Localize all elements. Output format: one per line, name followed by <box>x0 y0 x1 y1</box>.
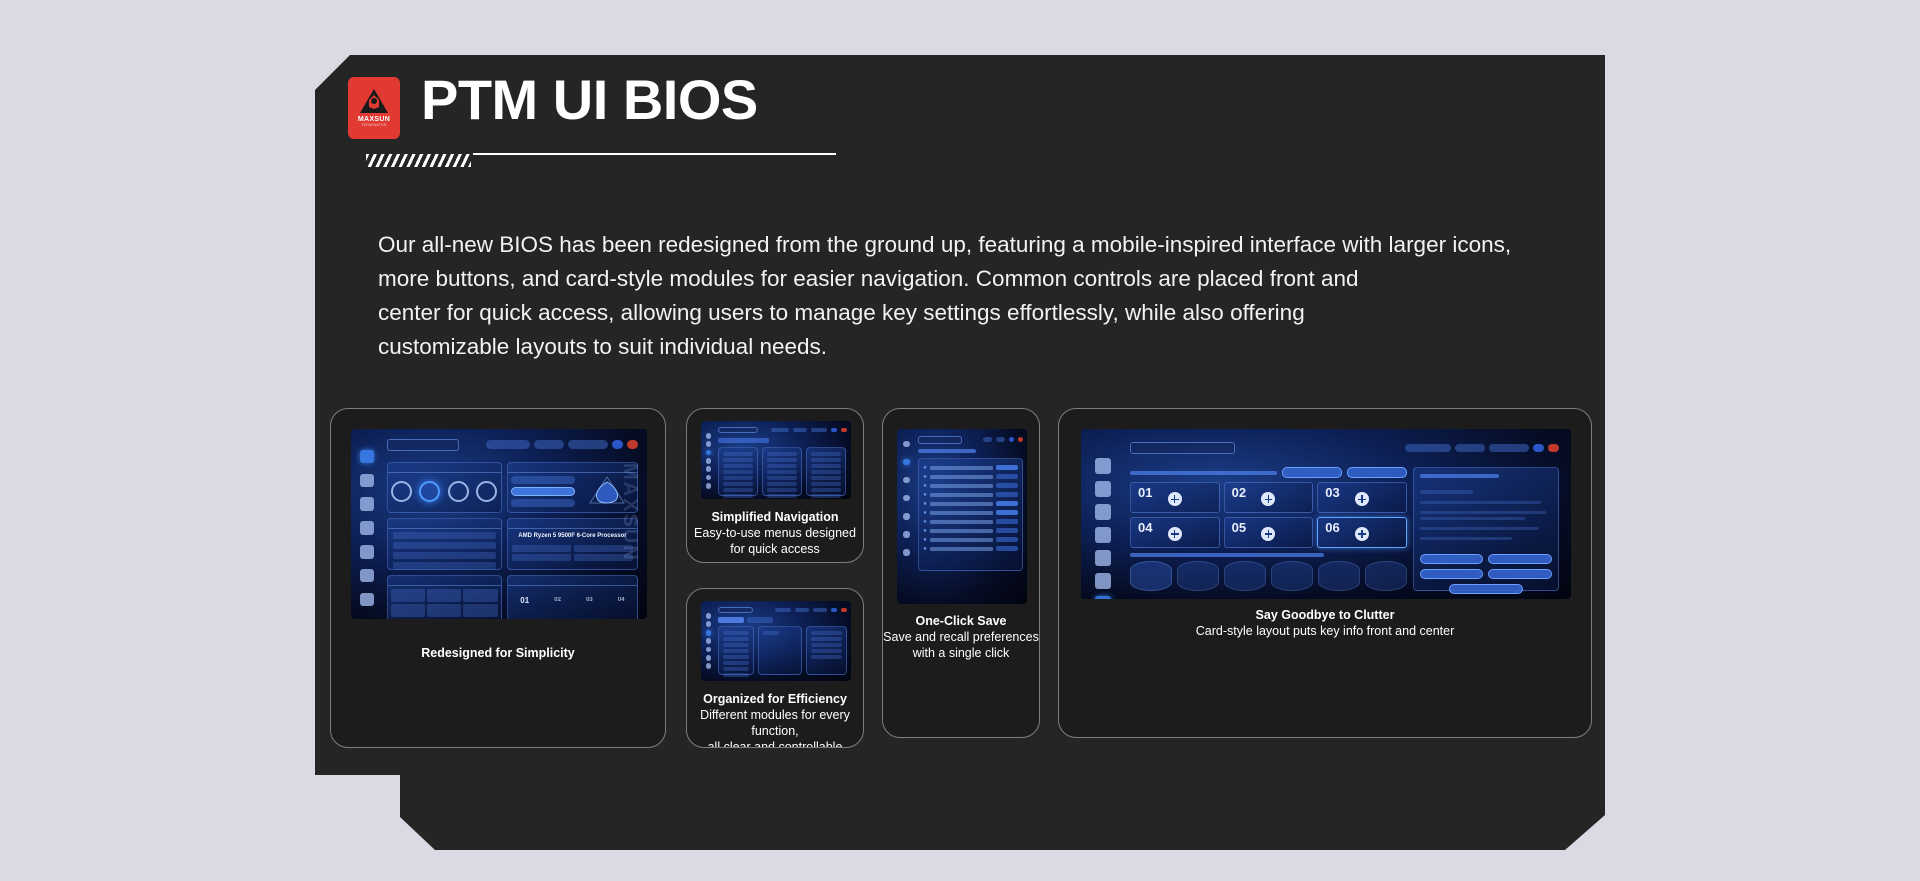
card-caption: One-Click Save Save and recall preferenc… <box>883 613 1039 661</box>
favorites-bar-button[interactable] <box>568 440 608 449</box>
discard-changes-button[interactable] <box>1420 569 1483 579</box>
header-right-block <box>1240 55 1605 167</box>
list-item[interactable]: ★ <box>923 474 1018 480</box>
power-icon[interactable] <box>627 440 638 449</box>
caption-subtitle-2: all clear and controllable <box>687 739 863 748</box>
maxsun-triangle-icon <box>359 88 389 114</box>
logo-brand: MAXSUN <box>358 116 390 123</box>
header-bar: MAXSUN TERMINATOR PTM UI BIOS <box>326 55 1231 165</box>
list-item[interactable]: ★ <box>923 465 1018 471</box>
save-changes-button[interactable] <box>1420 554 1483 564</box>
tool-slot[interactable] <box>1271 561 1313 591</box>
plus-icon <box>1355 527 1369 541</box>
boot-priority-section: 01020304 <box>507 575 638 619</box>
plus-icon <box>1261 527 1275 541</box>
card-caption: Organized for Efficiency Different modul… <box>687 691 863 748</box>
list-item[interactable]: ★ <box>923 501 1018 507</box>
mode-windows-default[interactable] <box>511 487 576 497</box>
screenshot-icon[interactable] <box>612 440 623 449</box>
sidebar-item-tools[interactable] <box>903 549 910 556</box>
sidebar-item-tools[interactable] <box>360 593 374 607</box>
bios-screenshot-advanced <box>701 421 851 499</box>
watermark: MAXSUN <box>618 463 641 562</box>
sidebar-item-favorites[interactable] <box>706 441 712 447</box>
sidebar-item-tools[interactable] <box>706 483 712 489</box>
bios-sidebar <box>351 429 384 619</box>
profile-card-02[interactable]: 02 <box>1224 482 1314 513</box>
card-caption: Redesigned for Simplicity <box>331 645 665 661</box>
sidebar-item-favorites[interactable] <box>1095 481 1111 497</box>
toggle-expo[interactable] <box>391 481 412 502</box>
bios-screenshot-modules <box>701 601 851 681</box>
bios-settings-panel <box>1413 467 1559 591</box>
list-item[interactable]: ★ <box>923 537 1018 543</box>
maxsun-logo: MAXSUN TERMINATOR <box>348 77 400 139</box>
plus-icon <box>1261 492 1275 506</box>
star-icon: ★ <box>923 492 927 498</box>
page-title: PTM UI BIOS <box>421 72 758 128</box>
list-item[interactable]: ★ <box>923 483 1018 489</box>
bios-screenshot-favorites: ★ ★ ★ ★ ★ ★ ★ ★ ★ ★ <box>897 429 1027 604</box>
star-icon: ★ <box>923 537 927 543</box>
sidebar-item-overclock[interactable] <box>706 458 712 464</box>
star-icon: ★ <box>923 519 927 525</box>
sidebar-item-advanced[interactable] <box>1095 504 1111 520</box>
star-icon: ★ <box>923 474 927 480</box>
plus-icon <box>1168 492 1182 506</box>
memory-section <box>387 518 502 570</box>
poster-canvas: MAXSUN TERMINATOR PTM UI BIOS Our all-ne… <box>0 0 1920 881</box>
sidebar-item-status[interactable] <box>706 466 712 472</box>
star-icon: ★ <box>923 465 927 471</box>
sidebar-item-preview[interactable] <box>706 433 712 439</box>
sidebar-item-status[interactable] <box>706 647 712 653</box>
card-one-click-save[interactable]: ★ ★ ★ ★ ★ ★ ★ ★ ★ ★ <box>882 408 1040 738</box>
caption-title: Redesigned for Simplicity <box>331 645 665 661</box>
hatch-pattern <box>366 154 471 167</box>
star-icon: ★ <box>923 501 927 507</box>
tool-slot[interactable] <box>1224 561 1266 591</box>
tool-slot[interactable] <box>1365 561 1407 591</box>
caption-title: Say Goodbye to Clutter <box>1059 607 1591 623</box>
sidebar-item-preview[interactable] <box>706 613 712 619</box>
description-line-1: Our all-new BIOS has been redesigned fro… <box>378 228 1558 262</box>
restore-defaults-button[interactable] <box>1449 584 1524 594</box>
module-pane-1 <box>718 626 755 675</box>
sidebar-item-preview[interactable] <box>360 450 374 464</box>
underline-rule <box>473 153 836 155</box>
toggle-perfect-bar[interactable] <box>419 481 440 502</box>
module-pane-3 <box>806 626 846 675</box>
load-from-file-button[interactable] <box>1347 467 1407 478</box>
profile-card-05[interactable]: 05 <box>1224 517 1314 548</box>
star-icon: ★ <box>923 546 927 552</box>
favorites-list: ★ ★ ★ ★ ★ ★ ★ ★ ★ ★ <box>918 458 1023 571</box>
sidebar-item-advanced[interactable] <box>706 450 712 456</box>
toggle-cup[interactable] <box>448 481 469 502</box>
sidebar-item-tools[interactable] <box>1095 596 1111 599</box>
function-button-section <box>387 462 502 514</box>
sidebar-item-favorites[interactable] <box>706 621 712 627</box>
description-paragraph: Our all-new BIOS has been redesigned fro… <box>378 228 1558 364</box>
language-button[interactable] <box>534 440 564 449</box>
list-item[interactable]: ★ <box>923 510 1018 516</box>
plus-icon <box>1168 527 1182 541</box>
sidebar-item-overclock[interactable] <box>706 638 712 644</box>
settings-column-1 <box>718 447 758 496</box>
search-input[interactable] <box>387 439 459 451</box>
module-pane-2 <box>758 626 802 675</box>
card-caption: Say Goodbye to Clutter Card-style layout… <box>1059 607 1591 639</box>
discard-and-exit-button[interactable] <box>1488 569 1551 579</box>
tool-slot[interactable] <box>1177 561 1219 591</box>
caption-subtitle-2: for quick access <box>687 541 863 557</box>
sidebar-item-status[interactable] <box>903 513 910 520</box>
sidebar-item-overclock[interactable] <box>360 521 374 535</box>
list-item[interactable]: ★ <box>923 519 1018 525</box>
list-item[interactable]: ★ <box>923 546 1018 552</box>
settings-column-2 <box>762 447 802 496</box>
sidebar-item-advanced[interactable] <box>360 497 374 511</box>
caption-subtitle-1: Easy-to-use menus designed <box>687 525 863 541</box>
save-and-exit-button[interactable] <box>1488 554 1551 564</box>
list-item[interactable]: ★ <box>923 528 1018 534</box>
description-line-2: more buttons, and card-style modules for… <box>378 262 1558 296</box>
profile-card-04[interactable]: 04 <box>1130 517 1220 548</box>
sidebar-item-favorites[interactable] <box>360 474 374 488</box>
caption-title: Simplified Navigation <box>687 509 863 525</box>
sidebar-item-boot[interactable] <box>903 531 910 538</box>
sidebar-item-overclock[interactable] <box>903 495 910 502</box>
fan-setting-section <box>387 575 502 619</box>
sidebar-item-boot[interactable] <box>360 569 374 583</box>
settings-column-3 <box>806 447 846 496</box>
profile-card-03[interactable]: 03 <box>1317 482 1407 513</box>
star-icon: ★ <box>923 483 927 489</box>
caption-subtitle-1: Different modules for every function, <box>687 707 863 739</box>
profile-card-06[interactable]: 06 <box>1317 517 1407 548</box>
tool-ez-update[interactable] <box>1130 561 1172 591</box>
sidebar-item-status[interactable] <box>1095 550 1111 566</box>
caption-subtitle: Card-style layout puts key info front an… <box>1059 623 1591 639</box>
description-line-3: center for quick access, allowing users … <box>378 296 1558 330</box>
bios-screenshot-profiles: 01 02 03 04 05 06 <box>1081 429 1571 599</box>
sidebar-item-status[interactable] <box>360 545 374 559</box>
bios-screenshot-preview: AMD Ryzen 5 9500F 6-Core Processor <box>351 429 647 619</box>
screenshot-icon[interactable] <box>1533 444 1544 452</box>
caption-title: Organized for Efficiency <box>687 691 863 707</box>
description-line-4: customizable layouts to suit individual … <box>378 330 1558 364</box>
sidebar-item-boot[interactable] <box>1095 573 1111 589</box>
card-caption: Simplified Navigation Easy-to-use menus … <box>687 509 863 557</box>
title-underline-decoration <box>366 152 836 168</box>
sidebar-item-favorites[interactable] <box>903 459 910 466</box>
power-icon[interactable] <box>1548 444 1559 452</box>
favorites-section-header <box>918 449 976 453</box>
caption-title: One-Click Save <box>883 613 1039 629</box>
sidebar-item-advanced[interactable] <box>706 630 712 636</box>
sidebar-item-tools[interactable] <box>706 663 712 669</box>
sidebar-item-overclock[interactable] <box>1095 527 1111 543</box>
plus-icon <box>1355 492 1369 506</box>
mode-default[interactable] <box>511 476 576 484</box>
caption-subtitle-1: Save and recall preferences <box>883 629 1039 645</box>
list-item[interactable]: ★ <box>923 492 1018 498</box>
sidebar-item-boot[interactable] <box>706 655 712 661</box>
sidebar-item-preview[interactable] <box>1095 458 1111 474</box>
save-to-profile-button[interactable] <box>1282 467 1342 478</box>
star-icon: ★ <box>923 510 927 516</box>
mode-perfect-status[interactable] <box>511 499 576 507</box>
feature-cards: AMD Ryzen 5 9500F 6-Core Processor <box>330 408 1592 748</box>
profile-card-01[interactable]: 01 <box>1130 482 1220 513</box>
tool-slot[interactable] <box>1318 561 1360 591</box>
sidebar-item-advanced[interactable] <box>903 477 910 484</box>
caption-subtitle-2: with a single click <box>883 645 1039 661</box>
star-icon: ★ <box>923 528 927 534</box>
toggle-rgb[interactable] <box>476 481 497 502</box>
sidebar-item-preview[interactable] <box>903 441 910 448</box>
hardware-monitor-button[interactable] <box>486 440 530 449</box>
card-say-goodbye-to-clutter[interactable]: 01 02 03 04 05 06 <box>1058 408 1592 738</box>
logo-tagline: TERMINATOR <box>361 124 386 128</box>
sidebar-item-boot[interactable] <box>706 475 712 481</box>
card-simplified-navigation[interactable]: Simplified Navigation Easy-to-use menus … <box>686 408 864 563</box>
card-organized-for-efficiency[interactable]: Organized for Efficiency Different modul… <box>686 588 864 748</box>
card-redesigned-for-simplicity[interactable]: AMD Ryzen 5 9500F 6-Core Processor <box>330 408 666 748</box>
